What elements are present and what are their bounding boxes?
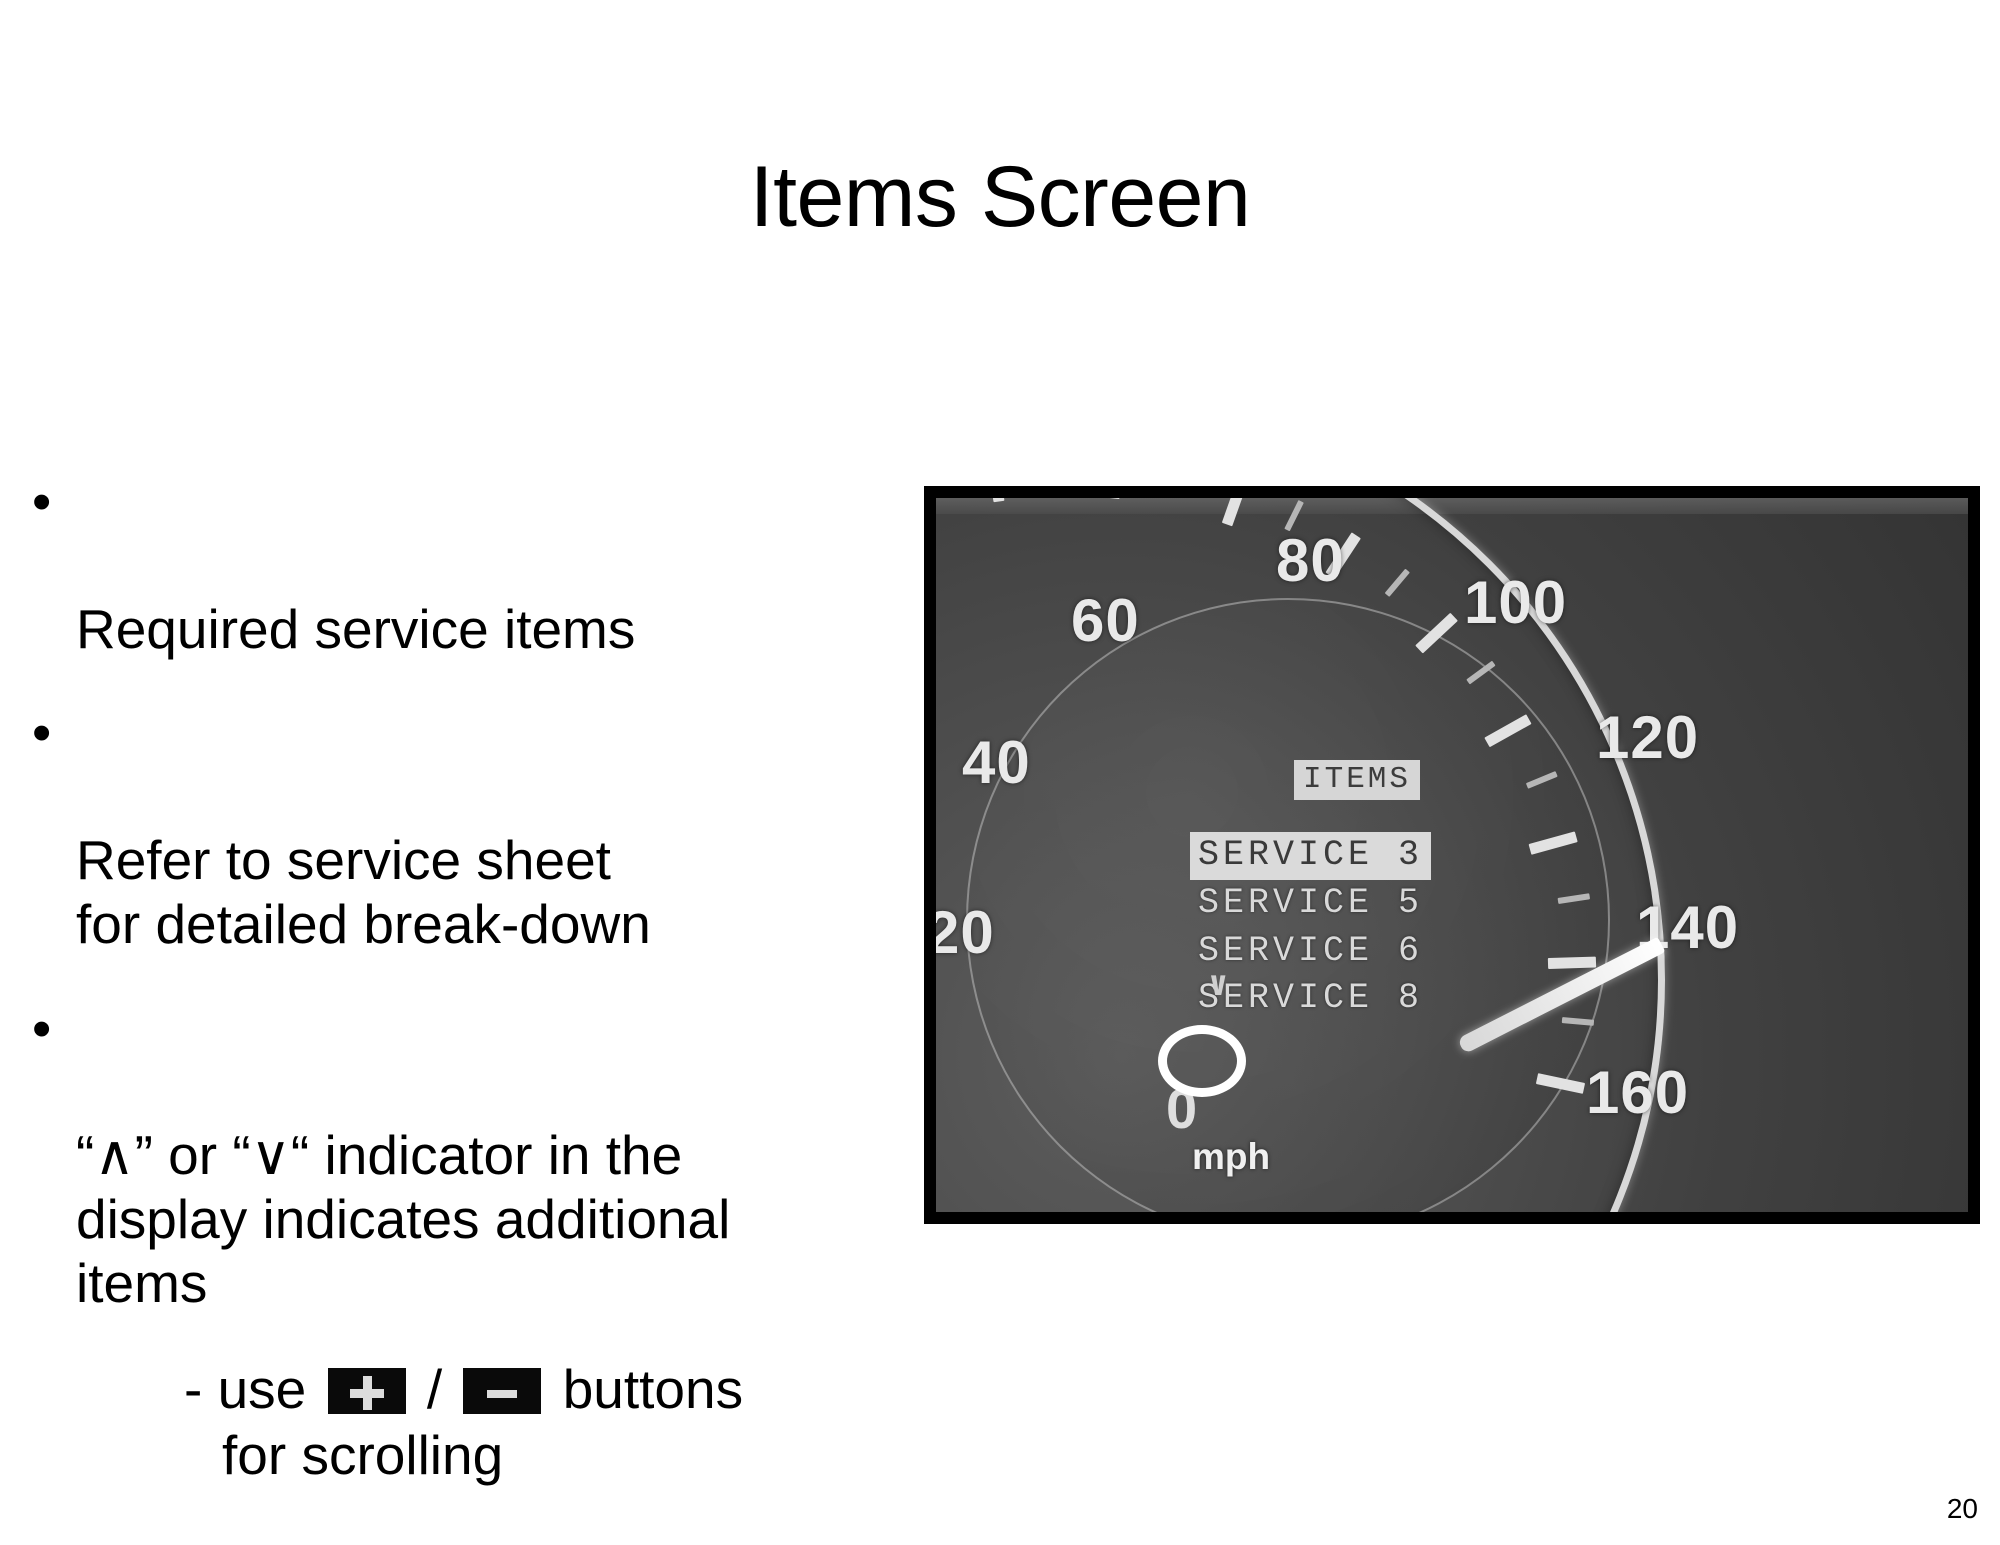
gauge-tick (1484, 715, 1531, 748)
gauge-number-160: 160 (1586, 1058, 1689, 1127)
gauge-number-120: 120 (1596, 703, 1699, 772)
bullet-text: Required service items (76, 598, 635, 660)
page-number: 20 (1947, 1493, 1978, 1525)
bullet-marker-icon: • (32, 701, 51, 765)
bullet-marker-icon: • (32, 997, 51, 1061)
separator-label: / (427, 1358, 442, 1420)
lcd-display: ITEMS SERVICE 3 SERVICE 5 SERVICE 6 SERV… (1186, 760, 1606, 1023)
gauge-number-20: 20 (936, 898, 995, 967)
gauge-tick (1536, 1073, 1585, 1094)
sub-bullet-scrolling-line: for scrolling (24, 1422, 904, 1488)
gauge-tick (1222, 498, 1248, 526)
page-title: Items Screen (0, 152, 2000, 242)
sub-bullet-suffix: buttons (563, 1358, 743, 1420)
gauge-tick (1466, 661, 1495, 685)
bullet-list: • Required service items • Refer to serv… (24, 470, 904, 1488)
minus-button-icon (463, 1368, 541, 1414)
plus-button-icon (328, 1368, 406, 1414)
sub-bullet-prefix: - use (184, 1358, 306, 1420)
callout-circle-annotation (1158, 1025, 1246, 1097)
gauge-unit-label: mph (1192, 1136, 1270, 1178)
gauge-tick (1385, 569, 1410, 597)
lcd-list-item[interactable]: SERVICE 5 (1190, 880, 1431, 928)
lcd-list-item[interactable]: SERVICE 3 (1190, 832, 1431, 880)
scroll-down-indicator-icon: ∨ (1208, 964, 1228, 1006)
bullet-text: “∧” or “∨“ indicator in the display indi… (76, 1124, 730, 1314)
list-item: • “∧” or “∨“ indicator in the display in… (24, 997, 904, 1316)
bullet-marker-icon: • (32, 470, 51, 534)
lcd-header-items: ITEMS (1294, 760, 1420, 800)
gauge-number-60: 60 (1071, 586, 1140, 655)
sub-bullet-buttons-line: - use / buttons (24, 1356, 904, 1422)
photo-inner: 20 40 60 80 100 120 140 160 0 mph ITEMS … (936, 498, 1968, 1212)
gauge-tick (1415, 613, 1458, 654)
list-item: • Required service items (24, 470, 904, 661)
gauge-tick (987, 498, 1005, 502)
lcd-item-list: SERVICE 3 SERVICE 5 SERVICE 6 SERVICE 8 (1190, 832, 1606, 1023)
gauge-tick (1109, 498, 1125, 499)
instrument-cluster-photo: 20 40 60 80 100 120 140 160 0 mph ITEMS … (924, 486, 1980, 1224)
list-item: • Refer to service sheet for detailed br… (24, 701, 904, 956)
gauge-number-100: 100 (1464, 568, 1567, 637)
gauge-number-80: 80 (1276, 526, 1345, 595)
gauge-number-40: 40 (962, 728, 1031, 797)
bullet-text: Refer to service sheet for detailed brea… (76, 829, 651, 955)
